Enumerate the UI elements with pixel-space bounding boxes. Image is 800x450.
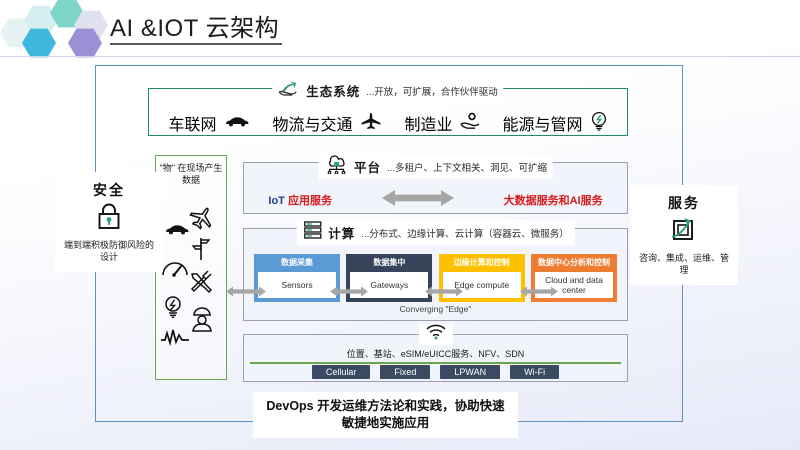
padlock-icon — [96, 202, 122, 235]
lightbulb-icon — [590, 111, 608, 136]
ecosystem-item-energy[interactable]: 能源与管网 — [502, 111, 607, 136]
platform-left-label: IoT 应用服务 — [268, 192, 332, 208]
compute-arrow-ingress — [226, 284, 266, 302]
car-icon — [224, 114, 250, 132]
platform-header: 平台 ...多租户、上下文相关、洞见、可扩缩 — [318, 154, 553, 179]
compute-subtitle: ...分布式、边缘计算、云计算（容器云、微服务） — [361, 226, 568, 240]
ecosystem-item-label: 物流与交通 — [272, 111, 352, 135]
platform-section: 平台 ...多租户、上下文相关、洞见、可扩缩 IoT 应用服务 大数据服务和AI… — [243, 162, 628, 214]
security-card: 安全 端到端积极防御风险的设计 — [55, 172, 163, 272]
connectivity-pill-fixed[interactable]: Fixed — [380, 365, 430, 379]
ecosystem-item-iov[interactable]: 车联网 — [168, 111, 249, 135]
compute-box-body: Sensors — [258, 272, 336, 298]
ecosystem-item-label: 车联网 — [168, 111, 216, 135]
ecosystem-header: 生态系统 ...开放，可扩展，合作伙伴驱动 — [272, 80, 503, 101]
ecosystem-section: 生态系统 ...开放，可扩展，合作伙伴驱动 车联网 物流与交通 制造业 — [148, 88, 628, 136]
connectivity-pill-row: Cellular Fixed LPWAN Wi-Fi — [244, 365, 627, 379]
pulse-icon — [160, 328, 190, 351]
ecosystem-item-logistics[interactable]: 物流与交通 — [272, 111, 381, 135]
compute-box-header: 边缘计算和控制 — [439, 254, 525, 270]
ecosystem-item-manufacturing[interactable]: 制造业 — [404, 111, 479, 135]
things-column: "物" 在现场产生数据 — [155, 155, 227, 380]
compute-section: 计算 ...分布式、边缘计算、云计算（容器云、微服务） 数据采集 Sensors… — [243, 228, 628, 321]
connectivity-divider — [250, 362, 621, 364]
wifi-icon — [425, 324, 447, 345]
things-label: "物" 在现场产生数据 — [159, 162, 223, 186]
platform-content: IoT 应用服务 大数据服务和AI服务 — [244, 185, 627, 215]
page-title: AI &IOT 云架构 — [110, 8, 279, 43]
ecosystem-item-label: 能源与管网 — [502, 111, 582, 135]
compute-arrow-1 — [330, 284, 368, 302]
gauge-icon — [161, 258, 189, 283]
connectivity-pill-wifi[interactable]: Wi-Fi — [510, 365, 559, 379]
things-icon-grid — [156, 200, 226, 373]
header-divider — [0, 56, 800, 57]
ecosystem-item-label: 制造业 — [404, 111, 452, 135]
car-icon — [164, 222, 190, 240]
services-description: 咨询、集成、运维、管理 — [630, 252, 738, 276]
compute-arrow-2 — [425, 284, 463, 302]
connectivity-pill-cellular[interactable]: Cellular — [312, 365, 371, 379]
compute-title: 计算 — [328, 223, 355, 242]
ecosystem-items: 车联网 物流与交通 制造业 能源与管网 — [149, 109, 627, 137]
connectivity-subtitle: 位置、基站、eSIM/eUICC服务、NFV、SDN — [244, 347, 627, 360]
page-header: AI &IOT 云架构 — [0, 0, 800, 57]
growth-chart-icon — [669, 215, 699, 248]
iot-label: IoT — [268, 195, 285, 207]
platform-title: 平台 — [354, 157, 381, 176]
ecosystem-subtitle: ...开放，可扩展，合作伙伴驱动 — [366, 84, 497, 98]
signpost-icon — [190, 236, 212, 267]
platform-subtitle: ...多租户、上下文相关、洞见、可扩缩 — [387, 160, 547, 174]
services-card: 服务 咨询、集成、运维、管理 — [630, 185, 738, 285]
connectivity-header — [419, 324, 453, 345]
cloud-network-icon — [324, 154, 348, 179]
hand-gear-icon — [460, 112, 480, 135]
services-title: 服务 — [668, 193, 700, 213]
connectivity-pill-lpwan[interactable]: LPWAN — [440, 365, 500, 379]
connectivity-section: 位置、基站、eSIM/eUICC服务、NFV、SDN Cellular Fixe… — [243, 334, 628, 382]
hand-leaf-icon — [278, 80, 300, 101]
airplane-icon — [189, 206, 215, 235]
worker-icon — [190, 306, 214, 337]
compute-box-header: 数据集中 — [346, 254, 432, 270]
converging-edge-caption: Converging "Edge" — [244, 304, 627, 314]
devops-banner: DevOps 开发运维方法论和实践，协助快速敏捷地实施应用 — [253, 392, 518, 438]
platform-right-label: 大数据服务和AI服务 — [504, 192, 603, 208]
hexagon-decoration — [0, 0, 108, 57]
app-services-label: 应用服务 — [288, 195, 332, 207]
security-description: 端到端积极防御风险的设计 — [55, 239, 163, 263]
ecosystem-title: 生态系统 — [306, 81, 360, 100]
compute-box-header: 数据采集 — [254, 254, 340, 270]
double-arrow-icon — [381, 188, 455, 213]
compute-box-header: 数据中心分析和控制 — [531, 254, 617, 270]
compute-box-sensors[interactable]: 数据采集 Sensors — [254, 254, 340, 302]
lightbulb-icon — [161, 294, 185, 323]
compute-arrow-3 — [520, 284, 558, 302]
tools-icon — [189, 270, 215, 301]
compute-header: 计算 ...分布式、边缘计算、云计算（容器云、微服务） — [296, 220, 574, 245]
title-underline — [110, 43, 282, 45]
server-stack-icon — [302, 220, 322, 245]
airplane-icon — [360, 112, 382, 135]
security-title: 安全 — [93, 180, 125, 200]
